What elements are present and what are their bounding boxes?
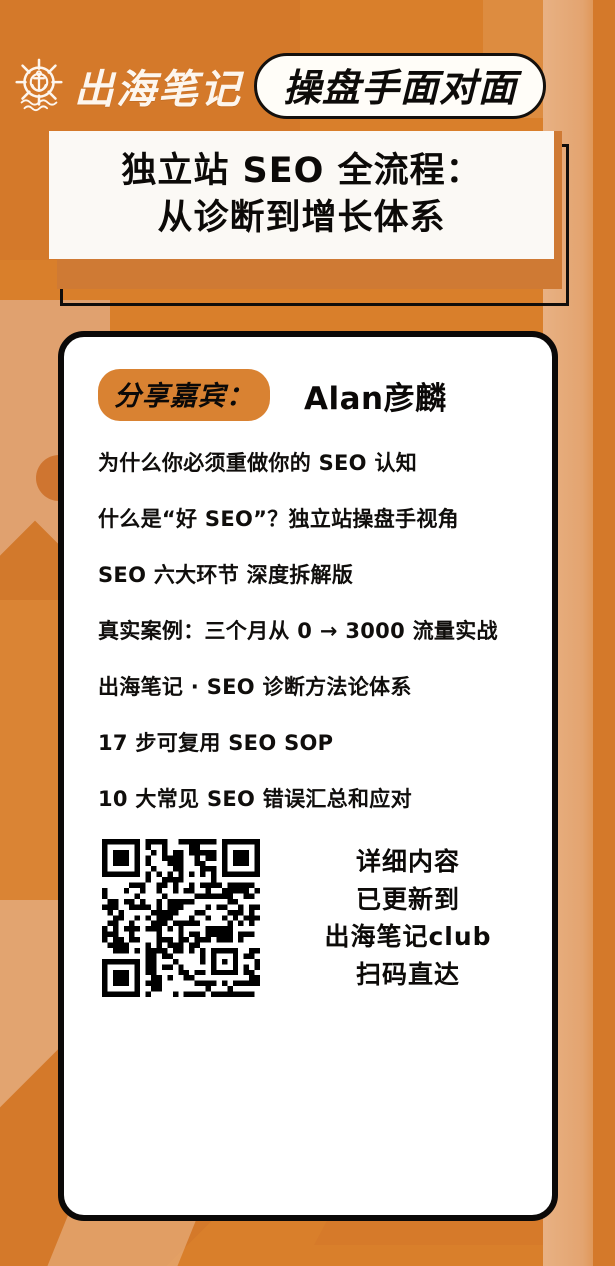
- content-card: 分享嘉宾： Alan彦麟 为什么你必须重做你的 SEO 认知 什么是“好 SEO…: [58, 331, 558, 1221]
- cta-line-3: 出海笔记club: [324, 918, 491, 956]
- title-line-1: 独立站 SEO 全流程：: [121, 151, 481, 192]
- agenda-item: SEO 六大环节 深度拆解版: [98, 559, 526, 589]
- agenda-item: 真实案例：三个月从 0 → 3000 流量实战: [98, 615, 526, 645]
- agenda-item: 17 步可复用 SEO SOP: [98, 727, 526, 757]
- title-card: 独立站 SEO 全流程： 从诊断到增长体系: [49, 131, 554, 259]
- cta-row: 详细内容 已更新到 出海笔记club 扫码直达: [102, 839, 526, 997]
- cta-line-2: 已更新到: [356, 881, 460, 919]
- speaker-row: 分享嘉宾： Alan彦麟: [98, 369, 526, 421]
- cta-line-4: 扫码直达: [356, 956, 460, 994]
- agenda-item: 出海笔记 · SEO 诊断方法论体系: [98, 671, 526, 701]
- ship-wheel-anchor-icon: [8, 55, 70, 117]
- agenda-item: 什么是“好 SEO”？独立站操盘手视角: [98, 503, 526, 533]
- agenda-list: 为什么你必须重做你的 SEO 认知 什么是“好 SEO”？独立站操盘手视角 SE…: [98, 447, 526, 813]
- brand-logo-text: 出海笔记: [74, 57, 242, 115]
- topic-badge: 操盘手面对面: [254, 53, 546, 119]
- title-line-2: 从诊断到增长体系: [157, 198, 445, 239]
- cta-line-1: 详细内容: [356, 843, 460, 881]
- brand-logo: 出海笔记: [8, 55, 242, 117]
- title-card-group: 独立站 SEO 全流程： 从诊断到增长体系: [49, 131, 569, 306]
- speaker-label-badge: 分享嘉宾：: [98, 369, 270, 421]
- agenda-item: 为什么你必须重做你的 SEO 认知: [98, 447, 526, 477]
- header: 出海笔记 操盘手面对面: [0, 48, 615, 124]
- speaker-label-badge-text: 分享嘉宾：: [114, 374, 254, 413]
- topic-badge-label: 操盘手面对面: [283, 57, 517, 112]
- bg-band-right-edge: [593, 0, 615, 1266]
- agenda-item: 10 大常见 SEO 错误汇总和应对: [98, 783, 526, 813]
- cta-text-block: 详细内容 已更新到 出海笔记club 扫码直达: [290, 843, 526, 993]
- speaker-name: Alan彦麟: [304, 373, 447, 418]
- qr-code-icon[interactable]: [102, 839, 260, 997]
